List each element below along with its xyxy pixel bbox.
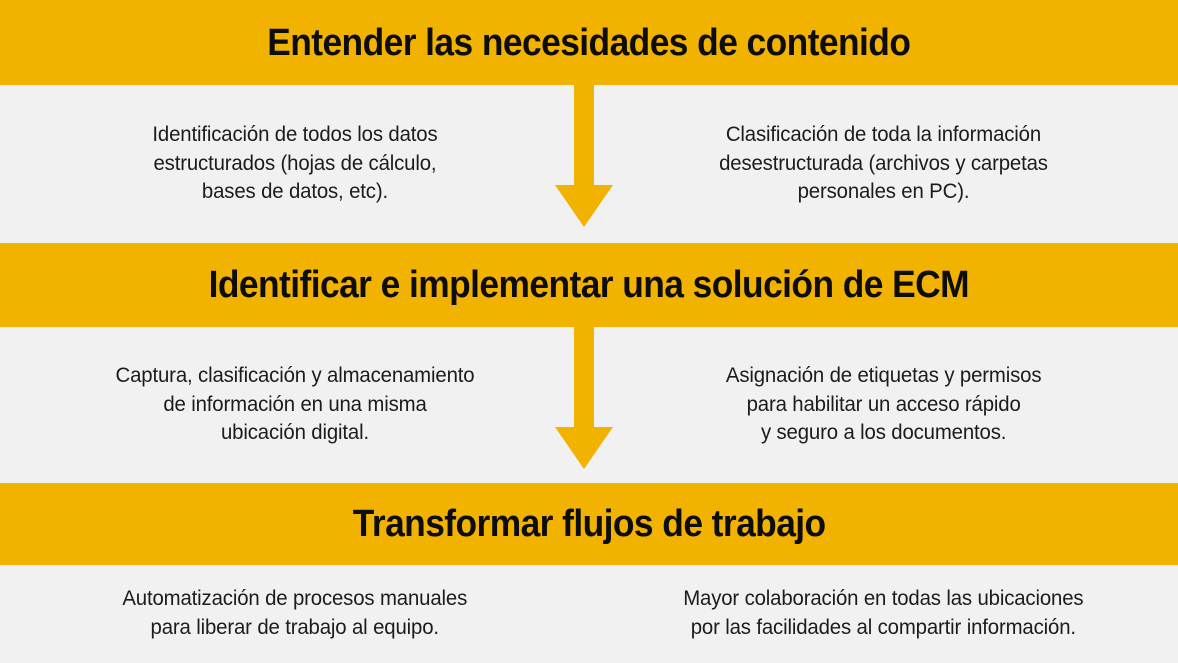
step-2-detail-row: Captura, clasificación y almacenamiento … xyxy=(0,327,1178,483)
step-1-detail-right-text: Clasificación de toda la información des… xyxy=(719,121,1048,208)
step-2-detail-right: Asignación de etiquetas y permisos para … xyxy=(589,362,1178,449)
step-1-detail-left-text: Identificación de todos los datos estruc… xyxy=(152,121,437,208)
step-2-detail-left: Captura, clasificación y almacenamiento … xyxy=(0,362,589,449)
step-3-detail-right-text: Mayor colaboración en todas las ubicacio… xyxy=(683,585,1083,643)
step-3-title: Transformar flujos de trabajo xyxy=(353,505,826,543)
step-3-detail-row: Automatización de procesos manuales para… xyxy=(0,565,1178,663)
step-3-detail-right: Mayor colaboración en todas las ubicacio… xyxy=(589,585,1178,643)
step-1-detail-row: Identificación de todos los datos estruc… xyxy=(0,85,1178,243)
process-flow-diagram: Entender las necesidades de contenido Id… xyxy=(0,0,1178,663)
step-1-detail-right: Clasificación de toda la información des… xyxy=(589,121,1178,208)
step-3-detail-left: Automatización de procesos manuales para… xyxy=(0,585,589,643)
step-3-detail-left-text: Automatización de procesos manuales para… xyxy=(122,585,467,643)
step-2-heading-band: Identificar e implementar una solución d… xyxy=(0,243,1178,327)
step-2-detail-left-text: Captura, clasificación y almacenamiento … xyxy=(115,362,474,449)
step-3-heading-band: Transformar flujos de trabajo xyxy=(0,483,1178,565)
step-1-title: Entender las necesidades de contenido xyxy=(267,24,910,62)
step-1-heading-band: Entender las necesidades de contenido xyxy=(0,0,1178,85)
step-1-detail-left: Identificación de todos los datos estruc… xyxy=(0,121,589,208)
step-2-title: Identificar e implementar una solución d… xyxy=(209,266,969,304)
step-2-detail-right-text: Asignación de etiquetas y permisos para … xyxy=(726,362,1042,449)
